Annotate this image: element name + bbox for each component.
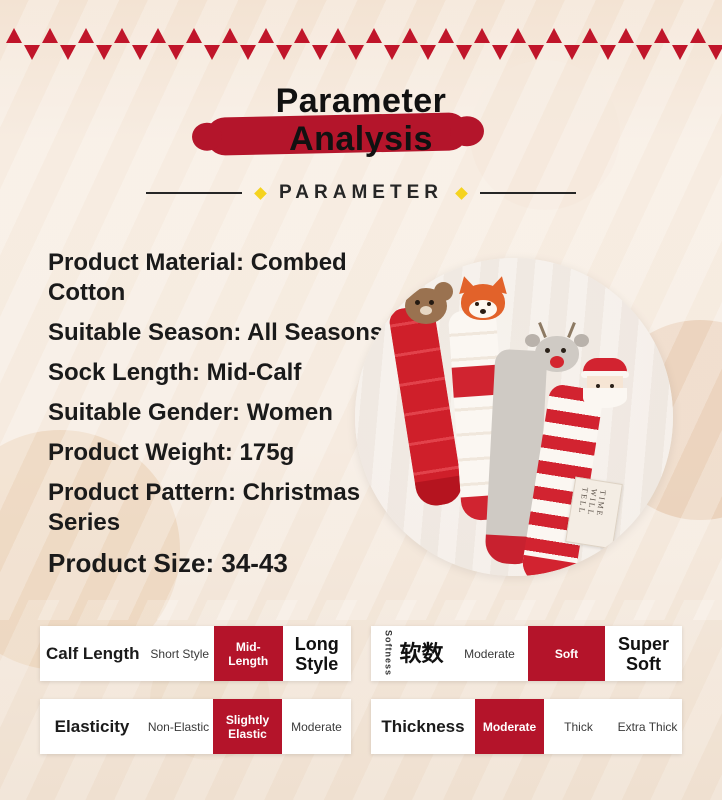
page-title-block: Parameter Analysis [0,82,722,158]
border-triangle [348,45,364,60]
border-triangle [312,45,328,60]
page-title-line2: Analysis [0,120,722,158]
scale-label-softness-en: Softness [378,630,397,676]
scale-thickness: Thickness Moderate Thick Extra Thick [371,699,682,754]
border-triangle [546,28,562,43]
border-triangle [150,28,166,43]
product-photo: TIME WILL TELL [355,258,673,576]
border-triangle [708,45,722,60]
scale-option-thickness-0[interactable]: Moderate [475,699,544,754]
border-triangle [366,28,382,43]
border-triangle [456,45,472,60]
border-triangle [528,45,544,60]
border-triangle [510,28,526,43]
border-triangle [6,28,22,43]
border-triangle [60,45,76,60]
border-triangle [24,45,40,60]
fox-character-icon [455,276,511,324]
subtitle-row: PARAMETER [0,182,722,204]
diamond-dot-icon-right [455,187,468,200]
border-triangle [258,28,274,43]
border-triangle [330,28,346,43]
divider-line-left [146,192,242,194]
diamond-dot-icon-left [254,187,267,200]
scale-option-elasticity-0[interactable]: Non-Elastic [144,699,213,754]
border-triangle [294,28,310,43]
bear-character-icon [399,282,453,328]
border-triangle [492,45,508,60]
scale-label-calf-length: Calf Length [40,626,146,681]
scale-label-softness: Softness 软数 [371,626,451,681]
border-triangle [474,28,490,43]
parameter-item: Product Size: 34-43 [48,548,408,578]
scale-option-softness-1[interactable]: Soft [528,626,605,681]
parameter-item: Product Material: Combed Cotton [48,248,408,308]
border-triangle [204,45,220,60]
border-triangle [384,45,400,60]
border-triangle [168,45,184,60]
scale-label-softness-cn: 软数 [399,643,443,665]
scale-elasticity: Elasticity Non-Elastic Slightly Elastic … [40,699,351,754]
border-triangle [618,28,634,43]
parameter-item: Product Weight: 175g [48,438,408,468]
border-triangle [132,45,148,60]
scale-option-elasticity-2[interactable]: Moderate [282,699,351,754]
border-triangle [564,45,580,60]
border-triangle [222,28,238,43]
border-triangle [600,45,616,60]
spec-scale-row-2: Elasticity Non-Elastic Slightly Elastic … [0,699,722,754]
parameter-item: Suitable Season: All Seasons [48,318,408,348]
border-triangle [402,28,418,43]
border-triangle [276,45,292,60]
border-triangle [690,28,706,43]
parameter-item: Suitable Gender: Women [48,398,408,428]
border-triangle [420,45,436,60]
parameter-list: Product Material: Combed Cotton Suitable… [48,248,408,588]
scale-option-calf-1[interactable]: Mid-Length [214,626,283,681]
scale-option-elasticity-1[interactable]: Slightly Elastic [213,699,282,754]
border-triangle [240,45,256,60]
border-triangle [636,45,652,60]
spec-scale-row-1: Calf Length Short Style Mid-Length Long … [0,626,722,681]
santa-character-icon [577,358,635,410]
scale-option-softness-0[interactable]: Moderate [451,626,528,681]
border-triangle [186,28,202,43]
scale-option-thickness-2[interactable]: Extra Thick [613,699,682,754]
page-title-line1: Parameter [0,82,722,120]
spec-scales: Calf Length Short Style Mid-Length Long … [0,626,722,772]
scale-option-calf-0[interactable]: Short Style [146,626,215,681]
parameter-item: Sock Length: Mid-Calf [48,358,408,388]
border-triangle [672,45,688,60]
border-triangle [42,28,58,43]
divider-line-right [480,192,576,194]
scale-label-thickness: Thickness [371,699,475,754]
border-triangle [438,28,454,43]
border-triangle [78,28,94,43]
hang-tag-text: TIME WILL TELL [572,487,607,547]
page-subtitle: PARAMETER [279,182,443,204]
scale-option-calf-2[interactable]: Long Style [283,626,352,681]
scale-option-softness-2[interactable]: Super Soft [605,626,682,681]
border-triangle [114,28,130,43]
scale-option-thickness-1[interactable]: Thick [544,699,613,754]
border-triangle [96,45,112,60]
product-hang-tag: TIME WILL TELL [565,477,623,550]
top-decorative-border [0,28,722,60]
scale-label-elasticity: Elasticity [40,699,144,754]
border-triangle [582,28,598,43]
scale-calf-length: Calf Length Short Style Mid-Length Long … [40,626,351,681]
parameter-item: Product Pattern: Christmas Series [48,478,408,538]
scale-softness: Softness 软数 Moderate Soft Super Soft [371,626,682,681]
border-triangle [654,28,670,43]
